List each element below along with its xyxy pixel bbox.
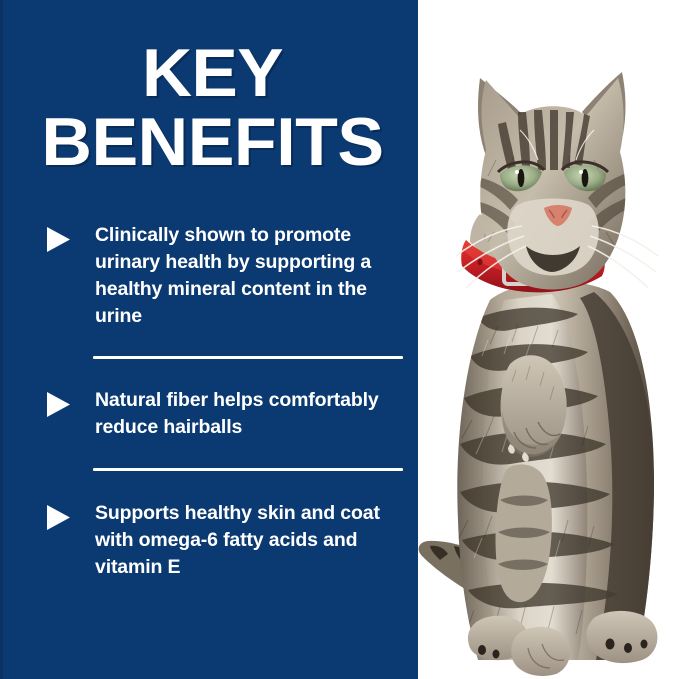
benefits-list: Clinically shown to promote urinary heal… [47, 222, 407, 581]
title-line-key: KEY [0, 40, 429, 107]
cat-body [457, 282, 654, 660]
triangle-right-icon [47, 505, 70, 530]
title-line-benefits: BENEFITS [0, 109, 431, 176]
navy-background-panel: KEY BENEFITS Clinically shown to promote… [0, 0, 435, 679]
benefit-divider [93, 468, 403, 471]
triangle-right-icon [47, 227, 70, 252]
triangle-right-icon [47, 392, 70, 417]
benefit-item-3: Supports healthy skin and coat with omeg… [47, 500, 407, 581]
key-benefits-panel: KEY BENEFITS Clinically shown to promote… [0, 0, 679, 679]
benefit-text-1: Clinically shown to promote urinary heal… [95, 222, 395, 330]
page-title: KEY BENEFITS [0, 40, 425, 175]
benefit-divider [93, 356, 403, 359]
benefit-item-1: Clinically shown to promote urinary heal… [47, 222, 407, 330]
cat-product-photo [418, 0, 679, 679]
benefit-text-2: Natural fiber helps comfortably reduce h… [95, 387, 395, 441]
benefit-item-2: Natural fiber helps comfortably reduce h… [47, 387, 407, 441]
benefit-text-3: Supports healthy skin and coat with omeg… [95, 500, 395, 581]
